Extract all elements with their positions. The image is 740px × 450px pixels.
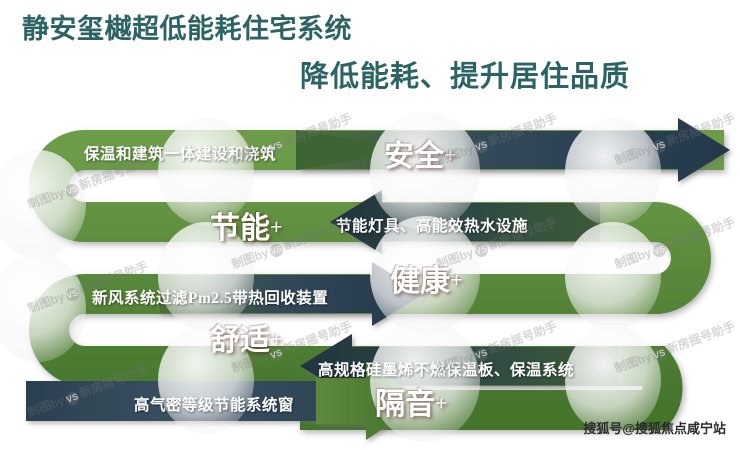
slide-canvas: 静安玺樾超低能耗住宅系统 降低能耗、提升居住品质	[0, 0, 740, 450]
row-3-arrow	[160, 262, 424, 326]
process-flow-diagram	[0, 0, 740, 450]
footer-credit: 搜狐号@搜狐焦点咸宁站	[583, 418, 726, 437]
row-5-bar	[26, 381, 348, 421]
row-2-arrow	[330, 190, 600, 254]
